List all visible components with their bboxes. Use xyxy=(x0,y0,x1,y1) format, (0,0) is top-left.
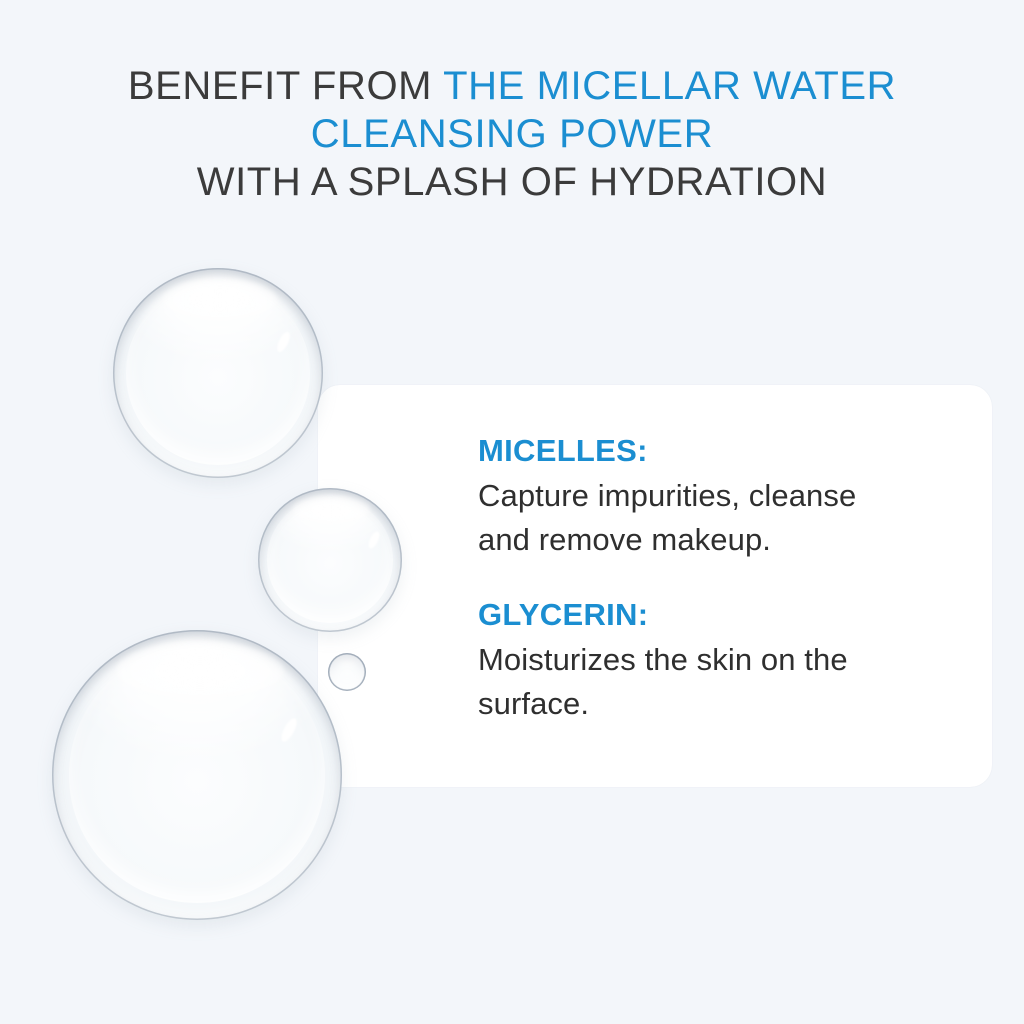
benefit-title-glycerin: GLYCERIN: xyxy=(478,596,978,634)
benefit-description-glycerin: Moisturizes the skin on the surface. xyxy=(478,638,978,726)
water-droplet-medium-icon xyxy=(258,488,402,632)
droplet-top-highlight xyxy=(116,642,284,700)
droplet-specular-highlight xyxy=(275,330,293,354)
benefit-item-micelles: MICELLES: Capture impurities, cleanse an… xyxy=(478,432,978,562)
benefit-title-micelles: MICELLES: xyxy=(478,432,978,470)
water-droplet-large-icon xyxy=(52,630,342,920)
headline-line-2: CLEANSING POWER xyxy=(0,110,1024,158)
headline-line-1-plain: BENEFIT FROM xyxy=(128,64,443,108)
headline-line-3: WITH A SPLASH OF HYDRATION xyxy=(0,158,1024,206)
benefit-description-line: Moisturizes the skin on the xyxy=(478,638,978,682)
water-droplet-top-icon xyxy=(113,268,323,478)
benefit-description-line: and remove makeup. xyxy=(478,518,978,562)
droplet-specular-highlight xyxy=(367,530,382,550)
page-title: BENEFIT FROM THE MICELLAR WATER CLEANSIN… xyxy=(0,62,1024,206)
benefits-list: MICELLES: Capture impurities, cleanse an… xyxy=(478,432,978,726)
headline-line-1-accent: THE MICELLAR WATER xyxy=(443,64,896,108)
droplet-specular-highlight xyxy=(278,716,299,744)
benefit-description-line: surface. xyxy=(478,682,978,726)
benefit-description-micelles: Capture impurities, cleanse and remove m… xyxy=(478,474,978,562)
droplet-top-highlight xyxy=(163,279,276,321)
benefit-item-glycerin: GLYCERIN: Moisturizes the skin on the su… xyxy=(478,596,978,726)
water-droplet-small-icon xyxy=(328,653,366,691)
droplet-top-highlight xyxy=(293,495,371,524)
headline-line-1: BENEFIT FROM THE MICELLAR WATER xyxy=(0,62,1024,110)
poster-canvas: BENEFIT FROM THE MICELLAR WATER CLEANSIN… xyxy=(0,0,1024,1024)
benefit-description-line: Capture impurities, cleanse xyxy=(478,474,978,518)
